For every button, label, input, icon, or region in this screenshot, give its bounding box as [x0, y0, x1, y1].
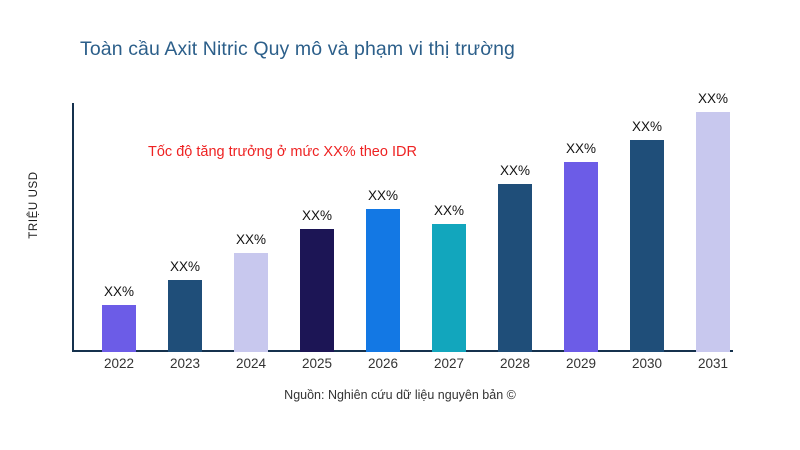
- bar-2023[interactable]: [168, 280, 202, 352]
- x-tick-2024: 2024: [218, 356, 284, 371]
- bar-value-label-2023: XX%: [170, 259, 200, 274]
- x-axis-tick-labels: 2022202320242025202620272028202920302031: [72, 356, 798, 380]
- bar-group-2026[interactable]: XX%: [350, 103, 416, 352]
- bar-series: XX%XX%XX%XX%XX%XX%XX%XX%XX%XX%: [72, 103, 798, 352]
- bar-group-2023[interactable]: XX%: [152, 103, 218, 352]
- x-tick-2028: 2028: [482, 356, 548, 371]
- x-tick-2031: 2031: [680, 356, 746, 371]
- x-tick-2027: 2027: [416, 356, 482, 371]
- bar-2028[interactable]: [498, 184, 532, 352]
- source-caption: Nguồn: Nghiên cứu dữ liệu nguyên bản ©: [0, 388, 800, 402]
- x-tick-2030: 2030: [614, 356, 680, 371]
- bar-value-label-2029: XX%: [566, 141, 596, 156]
- bar-2022[interactable]: [102, 305, 136, 352]
- bar-group-2029[interactable]: XX%: [548, 103, 614, 352]
- bar-2029[interactable]: [564, 162, 598, 352]
- x-tick-2023: 2023: [152, 356, 218, 371]
- bar-value-label-2024: XX%: [236, 232, 266, 247]
- bar-group-2024[interactable]: XX%: [218, 103, 284, 352]
- bar-2026[interactable]: [366, 209, 400, 352]
- bar-group-2031[interactable]: XX%: [680, 103, 746, 352]
- bar-value-label-2031: XX%: [698, 91, 728, 106]
- bar-value-label-2022: XX%: [104, 284, 134, 299]
- bar-group-2028[interactable]: XX%: [482, 103, 548, 352]
- bar-group-2025[interactable]: XX%: [284, 103, 350, 352]
- bar-value-label-2027: XX%: [434, 203, 464, 218]
- bar-2025[interactable]: [300, 229, 334, 353]
- x-tick-2025: 2025: [284, 356, 350, 371]
- x-tick-2022: 2022: [86, 356, 152, 371]
- bar-2031[interactable]: [696, 112, 730, 352]
- bar-value-label-2028: XX%: [500, 163, 530, 178]
- growth-rate-annotation: Tốc độ tăng trưởng ở mức XX% theo IDR: [148, 144, 417, 160]
- bar-2024[interactable]: [234, 253, 268, 352]
- chart-container: Toàn cầu Axit Nitric Quy mô và phạm vi t…: [0, 0, 800, 450]
- bar-2030[interactable]: [630, 140, 664, 352]
- y-axis-label-wrapper: TRIỆU USD: [22, 130, 46, 280]
- bar-value-label-2030: XX%: [632, 119, 662, 134]
- x-tick-2026: 2026: [350, 356, 416, 371]
- bar-group-2022[interactable]: XX%: [86, 103, 152, 352]
- y-axis-label: TRIỆU USD: [28, 171, 40, 238]
- bar-group-2030[interactable]: XX%: [614, 103, 680, 352]
- x-tick-2029: 2029: [548, 356, 614, 371]
- bar-group-2027[interactable]: XX%: [416, 103, 482, 352]
- bar-value-label-2026: XX%: [368, 188, 398, 203]
- bar-value-label-2025: XX%: [302, 208, 332, 223]
- bar-2027[interactable]: [432, 224, 466, 352]
- chart-title: Toàn cầu Axit Nitric Quy mô và phạm vi t…: [80, 38, 515, 61]
